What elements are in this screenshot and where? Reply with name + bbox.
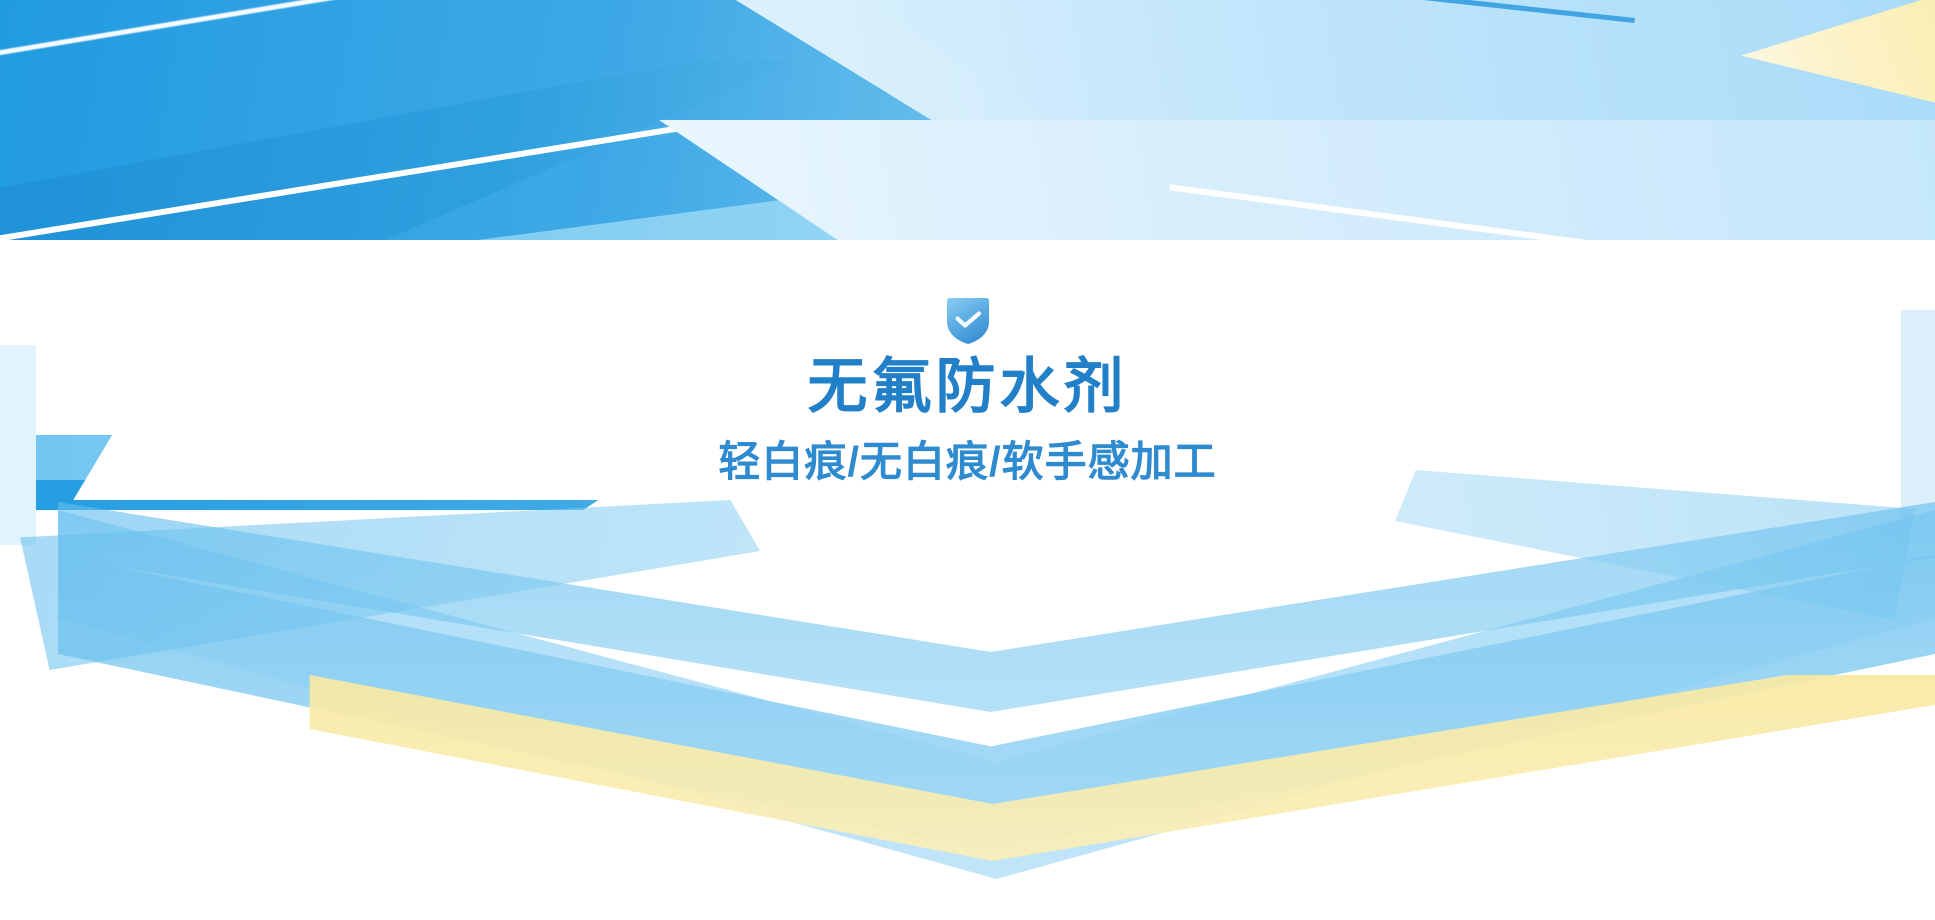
- product-hero-banner: 无氟防水剂 轻白痕/无白痕/软手感加工: [0, 0, 1935, 920]
- banner-content: 无氟防水剂 轻白痕/无白痕/软手感加工: [0, 0, 1935, 920]
- page-subtitle: 轻白痕/无白痕/软手感加工: [718, 437, 1216, 487]
- shield-check-icon: [941, 296, 995, 346]
- page-title: 无氟防水剂: [808, 352, 1128, 421]
